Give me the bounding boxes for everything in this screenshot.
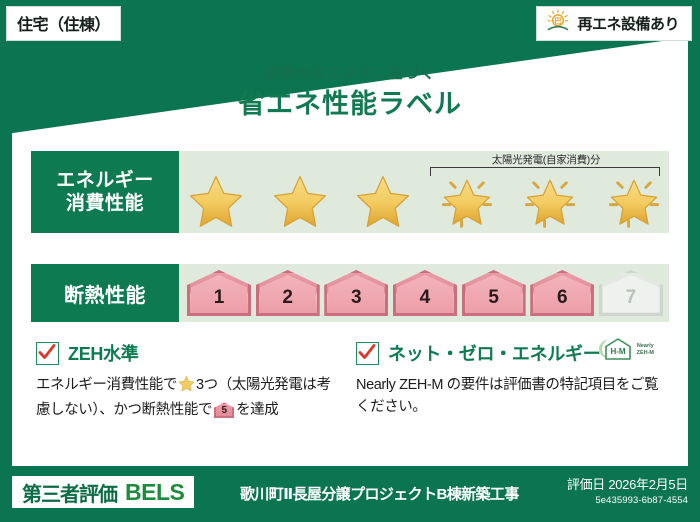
grade-badge: 3: [324, 270, 388, 316]
star-icon-inline: [178, 375, 195, 399]
bels-prefix: 第三者評価: [22, 478, 117, 507]
grade-badge: 1: [187, 270, 251, 316]
star-icon: [187, 172, 245, 230]
check-icon: [36, 342, 59, 365]
energy-stars-area: 太陽光発電(自家消費)分: [179, 151, 669, 233]
project-name: 歌川町Ⅱ長屋分譲プロジェクトB棟新築工事: [240, 483, 519, 504]
solar-self-consumption-note: 太陽光発電(自家消費)分: [431, 152, 661, 167]
zeh-m-logo: H-M Nearly ZEH-M: [597, 336, 654, 363]
label-footer: 第三者評価 BELS 歌川町Ⅱ長屋分譲プロジェクトB棟新築工事 評価日 2026…: [0, 466, 700, 522]
insulation-performance-row: 断熱性能 1 2 3: [30, 263, 670, 323]
bels-energy-label: 住宅（住棟） 巴 再エネ設備あり: [0, 0, 700, 522]
star-icon: [354, 172, 412, 230]
grade-badge: 2: [256, 270, 320, 316]
star-icon-solar: [521, 172, 579, 230]
grade-badge-inline: 5: [214, 402, 234, 418]
sun-solar-icon: 巴: [545, 9, 571, 38]
energy-performance-label: エネルギー 消費性能: [31, 151, 179, 233]
bels-name: BELS: [125, 479, 184, 506]
zeh-m-logo-caption: Nearly ZEH-M: [637, 343, 654, 355]
insulation-grade-scale: 1 2 3 4: [187, 269, 663, 317]
check-icon: [356, 342, 379, 365]
net-zero-energy-panel: ネット・ゼロ・エネルギー H-M Nearly ZEH-M: [350, 340, 670, 458]
label-body: 建築物省エネ法に基づく 省エネ性能ラベル エネルギー 消費性能 太陽光発電(自家…: [12, 10, 688, 466]
star-icon: [271, 172, 329, 230]
zeh-standard-description: エネルギー消費性能で3つ（太陽光発電は考慮しない）、かつ断熱性能で5を達成: [36, 374, 344, 422]
net-zero-energy-description: Nearly ZEH-M の要件は評価書の特記項目をご覧ください。: [356, 374, 664, 419]
evaluation-date: 評価日 2026年2月5日: [567, 474, 688, 493]
grade-badge-inactive: 7: [599, 270, 663, 316]
energy-performance-row: エネルギー 消費性能 太陽光発電(自家消費)分: [30, 150, 670, 234]
net-zero-energy-title: ネット・ゼロ・エネルギー: [388, 340, 600, 366]
zeh-standard-panel: ZEH水準 エネルギー消費性能で3つ（太陽光発電は考慮しない）、かつ断熱性能で5…: [30, 340, 350, 458]
grade-badge: 4: [393, 270, 457, 316]
svg-text:H-M: H-M: [610, 347, 625, 356]
renewable-equipment-badge: 巴 再エネ設備あり: [536, 6, 692, 41]
label-subtitle: 建築物省エネ法に基づく: [12, 62, 688, 83]
evaluation-id: 5e435993-6b87-4554: [567, 495, 688, 506]
insulation-grades-area: 1 2 3 4: [179, 264, 669, 322]
grade-badge: 5: [462, 270, 526, 316]
zeh-standard-title: ZEH水準: [68, 340, 139, 366]
evaluation-info: 評価日 2026年2月5日 5e435993-6b87-4554: [567, 474, 688, 506]
star-icon-solar: [605, 172, 663, 230]
criteria-panels: ZEH水準 エネルギー消費性能で3つ（太陽光発電は考慮しない）、かつ断熱性能で5…: [30, 340, 670, 458]
grade-badge: 6: [530, 270, 594, 316]
building-type-badge: 住宅（住棟）: [6, 6, 121, 41]
star-icon-solar: [438, 172, 496, 230]
building-type-text: 住宅（住棟）: [17, 17, 110, 34]
page-title: 省エネ性能ラベル: [12, 82, 688, 121]
insulation-performance-label: 断熱性能: [31, 264, 179, 322]
svg-text:巴: 巴: [555, 16, 563, 25]
star-rating: [187, 171, 663, 231]
renewable-equipment-text: 再エネ設備あり: [577, 13, 679, 34]
bels-certification-badge: 第三者評価 BELS: [12, 476, 194, 508]
